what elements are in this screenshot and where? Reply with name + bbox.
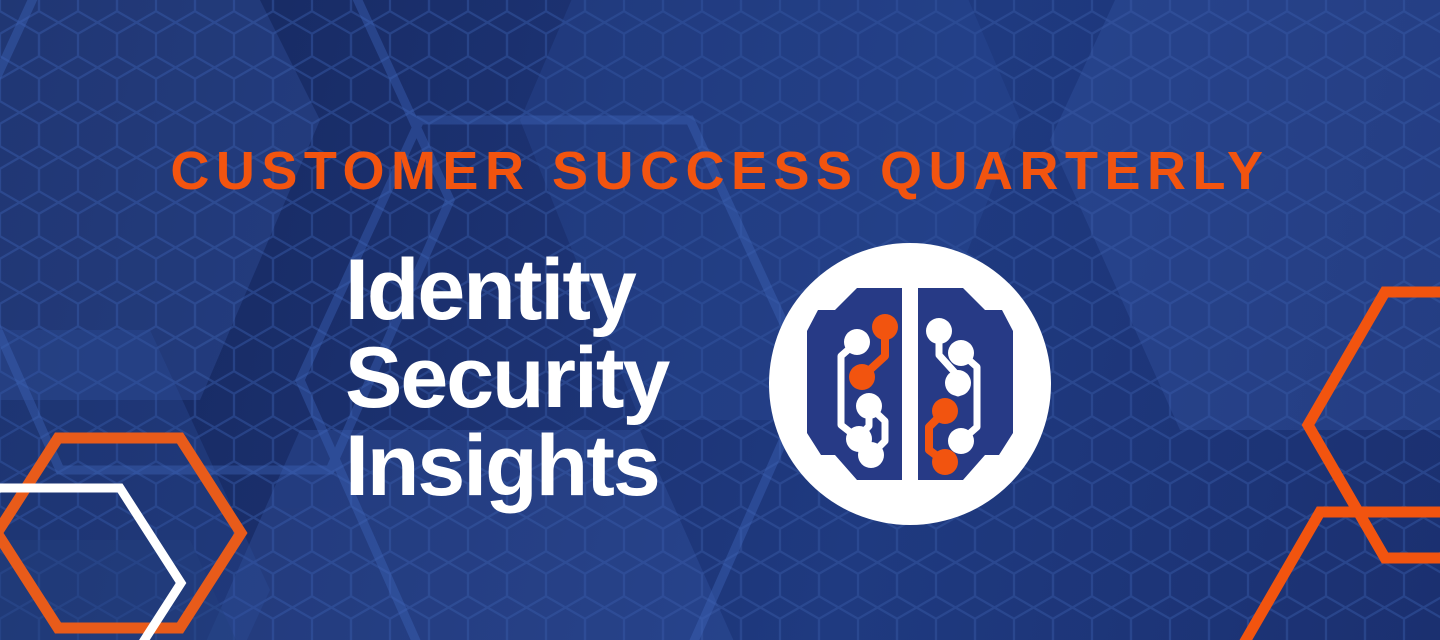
eyebrow-title: CUSTOMER SUCCESS QUARTERLY — [0, 144, 1440, 198]
headline: Identity Security Insights — [345, 246, 668, 510]
headline-line-1: Identity — [345, 246, 668, 334]
headline-line-2: Security — [345, 334, 668, 422]
banner-content: CUSTOMER SUCCESS QUARTERLY Identity Secu… — [0, 0, 1440, 640]
headline-line-3: Insights — [345, 422, 668, 510]
identity-security-insights-banner: CUSTOMER SUCCESS QUARTERLY Identity Secu… — [0, 0, 1440, 640]
brain-circuit-icon — [769, 243, 1051, 525]
